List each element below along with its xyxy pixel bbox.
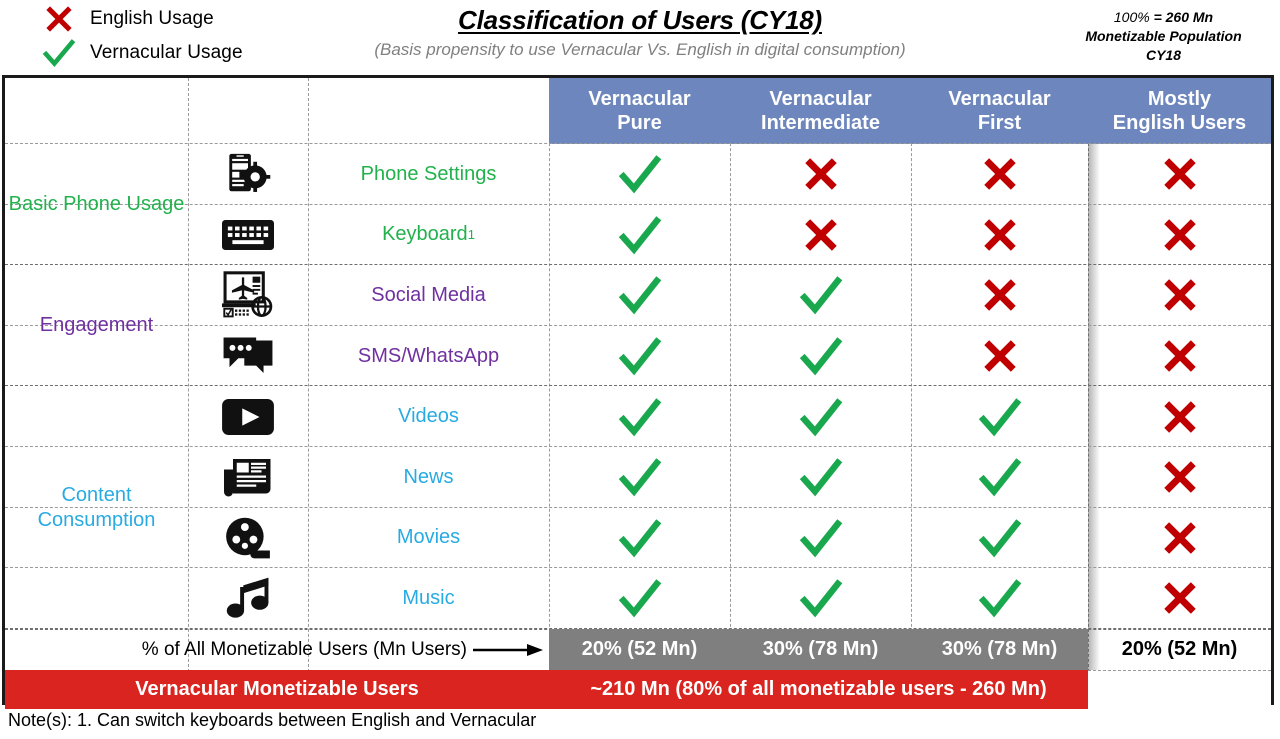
header-line1: Mostly <box>1148 88 1211 110</box>
mark-cell <box>911 144 1088 205</box>
mark-cell <box>549 568 730 629</box>
check-icon <box>977 518 1023 558</box>
table-row: Videos <box>5 386 1271 447</box>
cross-icon <box>1161 398 1199 436</box>
mark-cell <box>730 326 911 387</box>
table-row: News <box>5 447 1271 508</box>
cross-icon <box>1161 276 1199 314</box>
mark-cell <box>730 386 911 447</box>
mark-cell <box>1088 265 1271 326</box>
table-row: Keyboard1 <box>5 205 1271 266</box>
arrow-right-icon <box>473 643 543 657</box>
mark-cell <box>730 508 911 569</box>
phone-settings-icon <box>188 144 308 205</box>
column-header-mostly-english-users: MostlyEnglish Users <box>1088 78 1271 144</box>
row-label: Videos <box>308 386 549 447</box>
slide-canvas: English Usage Vernacular Usage Classific… <box>0 0 1280 739</box>
row-label-text: SMS/WhatsApp <box>358 345 499 368</box>
check-icon <box>617 215 663 255</box>
mark-cell <box>730 265 911 326</box>
vernacular-summary-row: Vernacular Monetizable Users ~210 Mn (80… <box>5 670 1271 709</box>
mark-cell <box>1088 447 1271 508</box>
check-icon <box>798 518 844 558</box>
mark-cell <box>911 265 1088 326</box>
cross-icon <box>981 216 1019 254</box>
mark-cell <box>730 205 911 266</box>
title-block: Classification of Users (CY18) (Basis pr… <box>300 0 980 61</box>
mark-cell <box>1088 144 1271 205</box>
cross-icon <box>1161 216 1199 254</box>
row-label-text: Videos <box>398 405 459 428</box>
cross-icon <box>981 276 1019 314</box>
check-icon <box>36 37 82 69</box>
mark-cell <box>1088 326 1271 387</box>
percent-value-vernacular-first: 30% (78 Mn) <box>911 629 1088 670</box>
row-label-text: News <box>403 466 453 489</box>
chat-bubbles-icon <box>188 326 308 387</box>
column-header-vernacular-first: VernacularFirst <box>911 78 1088 144</box>
percent-value-mostly-english-users: 20% (52 Mn) <box>1088 629 1271 670</box>
page-subtitle: (Basis propensity to use Vernacular Vs. … <box>300 39 980 61</box>
header-line2: English Users <box>1113 112 1246 134</box>
group-label-content-consumption: Content Consumption <box>5 387 188 630</box>
check-icon <box>617 518 663 558</box>
group-label-engagement: Engagement <box>5 265 188 386</box>
percent-row-label-wrap: % of All Monetizable Users (Mn Users) <box>5 629 549 670</box>
check-icon <box>798 336 844 376</box>
row-label-text: Movies <box>397 526 460 549</box>
social-media-icon <box>188 265 308 326</box>
table-row: SMS/WhatsApp <box>5 326 1271 387</box>
row-label: Phone Settings <box>308 144 549 205</box>
mark-cell <box>549 205 730 266</box>
mark-cell <box>730 568 911 629</box>
classification-table: VernacularPure VernacularIntermediate Ve… <box>2 75 1274 705</box>
check-icon <box>977 578 1023 618</box>
legend-label-vernacular: Vernacular Usage <box>82 42 243 64</box>
percent-value-vernacular-pure: 20% (52 Mn) <box>549 629 730 670</box>
film-reel-icon <box>188 508 308 569</box>
group-label-text: Basic Phone Usage <box>9 192 185 217</box>
check-icon <box>798 275 844 315</box>
header-line1: Vernacular <box>948 88 1050 110</box>
group-label-text: Engagement <box>40 313 153 338</box>
table-body: Phone Settings <box>5 144 1271 629</box>
percent-row: % of All Monetizable Users (Mn Users) 20… <box>5 629 1271 670</box>
mark-cell <box>549 265 730 326</box>
check-icon <box>617 457 663 497</box>
percent-row-label: % of All Monetizable Users (Mn Users) <box>142 639 467 661</box>
check-icon <box>798 397 844 437</box>
group-label-text: Content Consumption <box>5 483 188 533</box>
cross-icon <box>1161 519 1199 557</box>
cross-icon <box>981 337 1019 375</box>
keyboard-icon <box>188 205 308 266</box>
check-icon <box>977 457 1023 497</box>
page-title: Classification of Users (CY18) <box>300 5 980 35</box>
percent-value-vernacular-intermediate: 30% (78 Mn) <box>730 629 911 670</box>
header-line2: First <box>978 112 1021 134</box>
table-row: Movies <box>5 508 1271 569</box>
table-header-row: VernacularPure VernacularIntermediate Ve… <box>5 78 1271 144</box>
summary-white-tail <box>1088 670 1271 709</box>
mark-cell <box>911 205 1088 266</box>
mark-cell <box>1088 205 1271 266</box>
cross-icon <box>1161 337 1199 375</box>
row-label: Movies <box>308 508 549 569</box>
column-header-vernacular-intermediate: VernacularIntermediate <box>730 78 911 144</box>
mark-cell <box>1088 386 1271 447</box>
newspaper-icon <box>188 447 308 508</box>
check-icon <box>617 578 663 618</box>
cross-icon <box>1161 579 1199 617</box>
check-icon <box>798 457 844 497</box>
mark-cell <box>911 326 1088 387</box>
summary-left-label: Vernacular Monetizable Users <box>5 670 549 709</box>
header-line2: Pure <box>617 112 661 134</box>
row-label-text: Keyboard <box>382 223 468 246</box>
mark-cell <box>730 447 911 508</box>
header-line2: Intermediate <box>761 112 880 134</box>
video-play-icon <box>188 386 308 447</box>
row-label-text: Phone Settings <box>361 163 497 186</box>
mark-cell <box>911 447 1088 508</box>
row-label: Keyboard1 <box>308 205 549 266</box>
table-row: Music <box>5 568 1271 629</box>
population-note: 100% = 260 Mn Monetizable Population CY1… <box>1051 8 1276 65</box>
summary-red-band: Vernacular Monetizable Users ~210 Mn (80… <box>5 670 1088 709</box>
mark-cell <box>911 508 1088 569</box>
row-label: News <box>308 447 549 508</box>
check-icon <box>977 397 1023 437</box>
row-label-superscript: 1 <box>468 227 475 242</box>
check-icon <box>617 336 663 376</box>
legend-label-english: English Usage <box>82 8 214 30</box>
mark-cell <box>549 447 730 508</box>
population-pct: 100% <box>1114 9 1154 25</box>
mark-cell <box>549 144 730 205</box>
group-label-basic-phone-usage: Basic Phone Usage <box>5 144 188 265</box>
check-icon <box>617 397 663 437</box>
check-icon <box>798 578 844 618</box>
cross-icon <box>802 155 840 193</box>
row-label: Social Media <box>308 265 549 326</box>
population-value: = 260 Mn <box>1154 9 1214 25</box>
header-line1: Vernacular <box>769 88 871 110</box>
mark-cell <box>911 386 1088 447</box>
check-icon <box>617 275 663 315</box>
population-line2: Monetizable Population <box>1051 27 1276 46</box>
mark-cell <box>549 326 730 387</box>
population-line3: CY18 <box>1051 46 1276 65</box>
cross-icon <box>1161 155 1199 193</box>
column-header-vernacular-pure: VernacularPure <box>549 78 730 144</box>
mark-cell <box>730 144 911 205</box>
row-label: SMS/WhatsApp <box>308 326 549 387</box>
header-line1: Vernacular <box>588 88 690 110</box>
mark-cell <box>1088 508 1271 569</box>
check-icon <box>617 154 663 194</box>
mark-cell <box>549 386 730 447</box>
cross-icon <box>36 4 82 34</box>
music-note-icon <box>188 568 308 629</box>
mark-cell <box>1088 568 1271 629</box>
cross-icon <box>1161 458 1199 496</box>
row-label-text: Music <box>402 587 454 610</box>
cross-icon <box>981 155 1019 193</box>
cross-icon <box>802 216 840 254</box>
mark-cell <box>549 508 730 569</box>
footnote: Note(s): 1. Can switch keyboards between… <box>8 710 536 731</box>
table-row: Social Media <box>5 265 1271 326</box>
row-label: Music <box>308 568 549 629</box>
row-label-text: Social Media <box>371 284 486 307</box>
summary-right-label: ~210 Mn (80% of all monetizable users - … <box>549 670 1088 709</box>
table-row: Phone Settings <box>5 144 1271 205</box>
mark-cell <box>911 568 1088 629</box>
